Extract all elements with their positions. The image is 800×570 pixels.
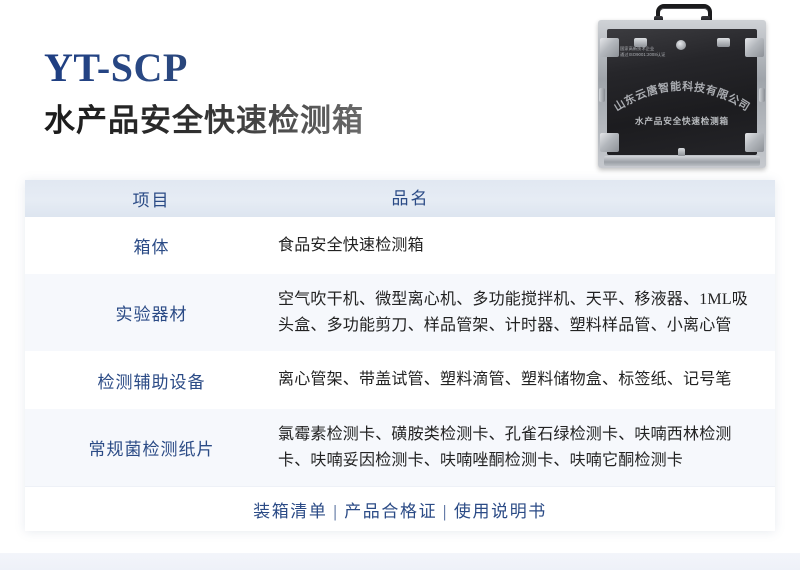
case-corner-top-right-icon	[745, 38, 764, 57]
row-value-auxiliary-equipment: 离心管架、带盖试管、塑料滴管、塑料储物盒、标签纸、记号笔	[278, 367, 775, 393]
case-body: 国家高新技术企业 通过ISO9001:2008认证 山东云唐智能科技有限公司 水…	[598, 20, 766, 168]
page-header: YT-SCP 水产品安全快速检测箱 国家高新技术企业 通过ISO9001:200…	[0, 0, 800, 175]
table-row: 检测辅助设备 离心管架、带盖试管、塑料滴管、塑料储物盒、标签纸、记号笔	[25, 351, 775, 409]
row-label-lab-equipment: 实验器材	[25, 300, 278, 325]
footer-document-links[interactable]: 装箱清单 | 产品合格证 | 使用说明书	[253, 497, 547, 522]
row-label-auxiliary-equipment: 检测辅助设备	[25, 368, 278, 393]
table-footer-row: 装箱清单 | 产品合格证 | 使用说明书	[25, 486, 775, 531]
row-label-case: 箱体	[25, 233, 278, 258]
specification-table: 项目 品名 箱体 食品安全快速检测箱 实验器材 空气吹干机、微型离心机、多功能搅…	[25, 180, 775, 531]
row-value-test-strips: 氯霉素检测卡、磺胺类检测卡、孔雀石绿检测卡、呋喃西林检测卡、呋喃妥因检测卡、呋喃…	[278, 422, 775, 474]
case-product-label: 水产品安全快速检测箱	[598, 115, 766, 127]
row-label-test-strips: 常规菌检测纸片	[25, 435, 278, 460]
product-image: 国家高新技术企业 通过ISO9001:2008认证 山东云唐智能科技有限公司 水…	[598, 4, 766, 174]
case-company-arc-text: 山东云唐智能科技有限公司	[598, 72, 766, 116]
table-row: 常规菌检测纸片 氯霉素检测卡、磺胺类检测卡、孔雀石绿检测卡、呋喃西林检测卡、呋喃…	[25, 409, 775, 486]
case-corner-bottom-right-icon	[745, 133, 764, 152]
case-cert-line-2: 通过ISO9001:2008认证	[620, 52, 665, 58]
page-footer-band	[0, 553, 800, 570]
table-row: 箱体 食品安全快速检测箱	[25, 217, 775, 274]
title-block: YT-SCP 水产品安全快速检测箱	[44, 48, 364, 139]
table-header-row: 项目 品名	[25, 180, 775, 217]
case-certification-text: 国家高新技术企业 通过ISO9001:2008认证	[620, 46, 665, 59]
column-header-item: 项目	[25, 186, 278, 211]
case-company-arc-label: 山东云唐智能科技有限公司	[611, 79, 752, 114]
product-subtitle: 水产品安全快速检测箱	[44, 104, 364, 139]
case-lock-icon	[676, 40, 686, 50]
row-value-case: 食品安全快速检测箱	[278, 233, 775, 259]
case-latch-right-icon	[717, 38, 730, 47]
svg-text:山东云唐智能科技有限公司: 山东云唐智能科技有限公司	[611, 79, 752, 114]
row-value-lab-equipment: 空气吹干机、微型离心机、多功能搅拌机、天平、移液器、1ML吸头盒、多功能剪刀、样…	[278, 287, 775, 339]
case-corner-bottom-left-icon	[600, 133, 619, 152]
page-title: YT-SCP	[44, 48, 364, 88]
case-corner-top-left-icon	[600, 38, 619, 57]
column-header-name: 品名	[278, 185, 775, 213]
case-bottom-rail	[604, 156, 760, 166]
table-row: 实验器材 空气吹干机、微型离心机、多功能搅拌机、天平、移液器、1ML吸头盒、多功…	[25, 274, 775, 351]
